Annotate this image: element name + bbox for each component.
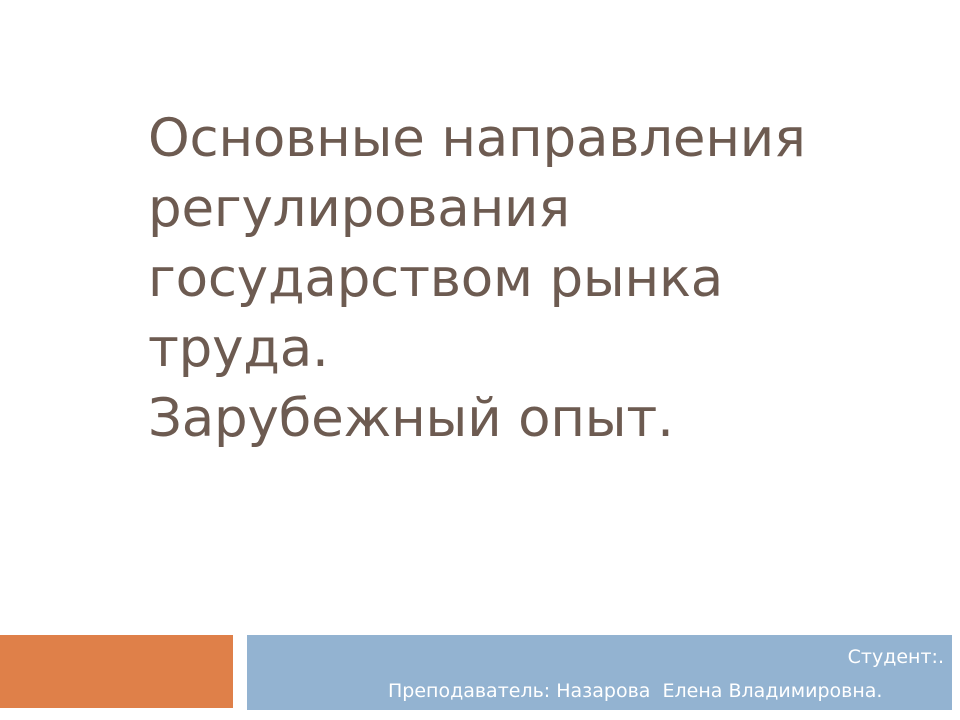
footer-info-bar: Студент:. Преподаватель: Назарова Елена … [247, 635, 952, 710]
footer-student-label: Студент:. [255, 640, 944, 674]
footer-accent-bar [0, 635, 233, 708]
footer-text-group: Студент:. Преподаватель: Назарова Елена … [247, 635, 952, 710]
page-title: Основные направления регулирования госуд… [148, 104, 848, 454]
title-block: Основные направления регулирования госуд… [148, 104, 848, 454]
presentation-slide: Основные направления регулирования госуд… [0, 0, 960, 720]
footer-teacher-label: Преподаватель: Назарова Елена Владимиров… [255, 674, 944, 708]
